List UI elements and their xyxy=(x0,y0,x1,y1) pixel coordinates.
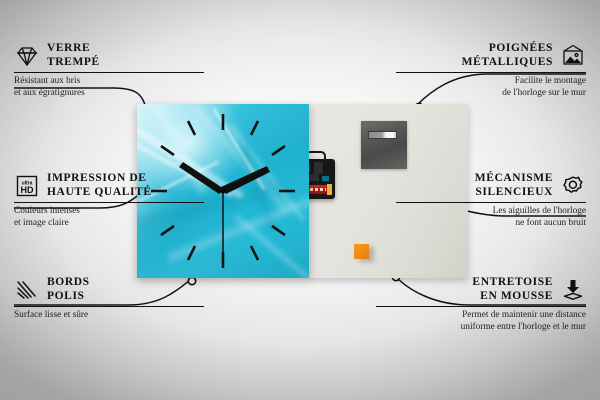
picture-frame-hanger-icon xyxy=(560,44,586,68)
feature-title: ENTRETOISE EN MOUSSE xyxy=(472,276,553,303)
title-underline xyxy=(396,202,586,203)
title-underline xyxy=(376,306,586,307)
title-underline xyxy=(14,202,204,203)
feature-description: Permet de maintenir une distance uniform… xyxy=(376,310,586,333)
feature-bords-polis: BORDS POLIS Surface lisse et sûre xyxy=(14,276,204,322)
tick-4 xyxy=(272,226,285,235)
desc-line-2: de l'horloge sur le mur xyxy=(502,88,586,98)
hanger-slot xyxy=(368,131,397,139)
tick-11 xyxy=(188,121,195,135)
feature-description: Couleurs intenses et image claire xyxy=(14,206,204,229)
tick-5 xyxy=(251,246,258,260)
desc-line-1: Permet de maintenir une distance xyxy=(462,310,586,320)
title-line-2: MÉTALLIQUES xyxy=(462,56,553,68)
feature-description: Surface lisse et sûre xyxy=(14,310,204,321)
desc-line-2: et image claire xyxy=(14,218,69,228)
title-line-2: EN MOUSSE xyxy=(480,290,553,302)
title-underline xyxy=(396,72,586,73)
hands-center-cap xyxy=(220,188,225,193)
foam-spacer xyxy=(354,244,369,259)
title-underline xyxy=(14,72,204,73)
title-line-1: POIGNÉES xyxy=(489,42,553,54)
foam-spacer-arrow-icon xyxy=(560,278,586,302)
tick-2 xyxy=(272,146,285,155)
title-line-1: VERRE xyxy=(47,42,90,54)
feature-mecanisme-silencieux: MÉCANISME SILENCIEUX Les aiguilles de l'… xyxy=(396,172,586,229)
feature-title: MÉCANISME SILENCIEUX xyxy=(475,172,553,199)
tick-10 xyxy=(161,146,174,155)
title-line-1: IMPRESSION DE xyxy=(47,172,147,184)
title-line-2: SILENCIEUX xyxy=(475,186,553,198)
feature-entretoise-en-mousse: ENTRETOISE EN MOUSSE Permet de maintenir… xyxy=(376,276,586,333)
feature-description: Les aiguilles de l'horloge ne font aucun… xyxy=(396,206,586,229)
title-line-2: POLIS xyxy=(47,290,85,302)
movement-detail xyxy=(314,162,323,174)
title-line-1: ENTRETOISE xyxy=(472,276,553,288)
diamond-icon xyxy=(14,44,40,68)
metal-hanger-plate xyxy=(361,121,407,169)
title-line-2: HAUTE QUALITÉ xyxy=(47,186,152,198)
title-underline xyxy=(14,306,204,307)
gear-icon xyxy=(560,174,586,198)
infographic-canvas: VERRE TREMPÉ Résistant aux bris et aux é… xyxy=(0,0,600,400)
desc-line-2: ne font aucun bruit xyxy=(516,218,586,228)
feature-title: POIGNÉES MÉTALLIQUES xyxy=(462,42,553,69)
feature-description: Résistant aux bris et aux égratignures xyxy=(14,76,204,99)
ultra-hd-icon: ultra HD xyxy=(14,174,40,198)
desc-line-1: Facilite le montage xyxy=(515,76,586,86)
feature-impression-haute-qualite: ultra HD IMPRESSION DE HAUTE QUALITÉ Cou… xyxy=(14,172,204,229)
desc-line-1: Surface lisse et sûre xyxy=(14,310,88,320)
desc-line-2: et aux égratignures xyxy=(14,88,85,98)
tick-7 xyxy=(188,246,195,260)
title-line-1: MÉCANISME xyxy=(475,172,553,184)
feature-title: VERRE TREMPÉ xyxy=(47,42,100,69)
feature-verre-trempe: VERRE TREMPÉ Résistant aux bris et aux é… xyxy=(14,42,204,99)
feature-title: IMPRESSION DE HAUTE QUALITÉ xyxy=(47,172,152,199)
svg-text:HD: HD xyxy=(21,185,34,195)
feature-poignees-metalliques: POIGNÉES MÉTALLIQUES Facilite le montage… xyxy=(396,42,586,99)
minute-hand xyxy=(221,166,270,194)
desc-line-1: Les aiguilles de l'horloge xyxy=(493,206,586,216)
desc-line-1: Résistant aux bris xyxy=(14,76,80,86)
title-line-2: TREMPÉ xyxy=(47,56,100,68)
title-line-1: BORDS xyxy=(47,276,90,288)
desc-line-1: Couleurs intenses xyxy=(14,206,80,216)
feature-description: Facilite le montage de l'horloge sur le … xyxy=(396,76,586,99)
battery-terminal xyxy=(327,184,332,195)
polished-edges-icon xyxy=(14,278,40,302)
tick-1 xyxy=(251,121,258,135)
desc-line-2: uniforme entre l'horloge et le mur xyxy=(461,322,586,332)
movement-detail xyxy=(322,176,329,181)
feature-title: BORDS POLIS xyxy=(47,276,90,303)
